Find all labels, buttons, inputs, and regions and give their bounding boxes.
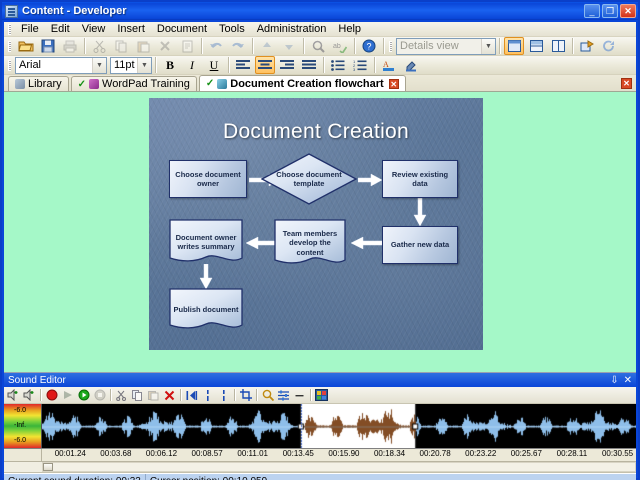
node-review-existing-data[interactable]: Review existing data (382, 160, 458, 198)
panel-close-icon[interactable]: ✕ (624, 375, 632, 386)
font-name-value: Arial (19, 59, 41, 71)
redo-icon (228, 37, 248, 55)
minimize-button[interactable]: _ (584, 4, 600, 18)
node-label: Document owner writes summary (169, 233, 243, 252)
record-icon[interactable] (44, 388, 59, 403)
ruler-gutter (4, 449, 42, 461)
toolbar-separator (323, 57, 324, 73)
ruler-tick: 00:13.45 (283, 449, 314, 458)
italic-label: I (190, 58, 194, 73)
copy-icon (111, 37, 131, 55)
bold-button[interactable]: B (160, 56, 180, 74)
meter-label-top: -6.0 (14, 407, 26, 414)
pin-icon[interactable]: ⇩ (610, 375, 618, 386)
node-label: Team members develop the content (274, 229, 346, 257)
tab-document-creation-flowchart-label: Document Creation flowchart (230, 78, 383, 90)
check-icon: ✓ (206, 78, 214, 89)
marker2-icon[interactable] (216, 388, 231, 403)
connector-template-to-review (358, 173, 384, 187)
flowchart-icon (217, 79, 227, 89)
svg-text:?: ? (366, 42, 371, 52)
node-gather-new-data[interactable]: Gather new data (382, 226, 458, 264)
font-color-icon[interactable]: A (379, 56, 399, 74)
level-meter: -6.0 -Inf. -6.0 (4, 404, 42, 448)
client-area: File Edit View Insert Document Tools Adm… (4, 22, 636, 476)
crop-icon[interactable] (238, 388, 253, 403)
menu-view[interactable]: View (76, 22, 112, 36)
find-icon (308, 37, 328, 55)
paste-icon (146, 388, 161, 403)
horizontal-split-icon[interactable] (526, 37, 546, 55)
sound-duration-status: Current sound duration: 00:33 (4, 474, 146, 480)
italic-button[interactable]: I (182, 56, 202, 74)
vertical-split-icon[interactable] (548, 37, 568, 55)
ruler-tick: 00:03.68 (100, 449, 131, 458)
application-window: Content - Developer _ ❐ ✕ File Edit View… (0, 0, 640, 480)
toolbar-separator (572, 38, 573, 54)
document-workspace[interactable]: Document Creation (4, 92, 636, 372)
close-button[interactable]: ✕ (620, 4, 636, 18)
effects-icon[interactable] (314, 388, 329, 403)
copy-icon[interactable] (130, 388, 145, 403)
meter-label-bottom: -6.0 (14, 437, 26, 444)
meter-label-middle: -Inf. (14, 422, 26, 429)
insert-sound-icon[interactable] (6, 388, 21, 403)
delete-icon[interactable] (162, 388, 177, 403)
svg-text:A: A (383, 60, 389, 69)
cut-icon (89, 37, 109, 55)
levels-icon[interactable] (276, 388, 291, 403)
cursor-position-status: Cursor position: 00:10.059 (146, 474, 636, 480)
highlight-icon[interactable] (401, 56, 421, 74)
sound-editor-titlebar: Sound Editor ⇩ ✕ (4, 373, 636, 387)
check-icon: ✓ (78, 79, 86, 90)
app-document-icon (5, 5, 18, 18)
chevron-down-icon: ▼ (137, 58, 151, 73)
window-titlebar: Content - Developer _ ❐ ✕ (2, 2, 638, 20)
font-size-select[interactable]: 11pt ▼ (110, 57, 152, 74)
slide-title: Document Creation (149, 120, 483, 144)
ruler-tick: 00:28.11 (557, 449, 588, 458)
ruler-tick: 00:30.55 (602, 449, 633, 458)
maximize-button[interactable]: ❐ (602, 4, 618, 18)
connector-review-to-gather (413, 198, 427, 227)
menu-edit[interactable]: Edit (45, 22, 76, 36)
sound-editor-panel: Sound Editor ⇩ ✕ (4, 372, 636, 480)
play-icon[interactable] (76, 388, 91, 403)
sound-status-bar: Current sound duration: 00:33 Cursor pos… (4, 473, 636, 480)
waveform-hscrollbar[interactable] (4, 462, 636, 473)
font-name-select[interactable]: Arial ▼ (15, 57, 107, 74)
menu-bar: File Edit View Insert Document Tools Adm… (4, 22, 636, 37)
toolbar-separator (303, 38, 304, 54)
toolbar-separator (155, 57, 156, 73)
close-document-button[interactable]: ✕ (621, 78, 632, 89)
help-icon[interactable]: ? (359, 37, 379, 55)
sound-editor-toolbar (4, 387, 636, 404)
move-down-icon (279, 37, 299, 55)
node-label: Choose document owner (172, 170, 244, 189)
timeline-ruler[interactable]: 00:01.2400:03.6800:06.1200:08.5700:11.01… (4, 449, 636, 462)
connector-summary-to-publish (199, 264, 213, 290)
bullet-list-icon[interactable] (328, 56, 348, 74)
toolbar-separator (499, 38, 500, 54)
main-toolbar: ab ? Details view ▼ (4, 37, 636, 56)
tab-library-label: Library (28, 78, 62, 90)
menubar-gripper[interactable] (6, 23, 12, 36)
node-label: Review existing data (385, 170, 455, 189)
minus-icon[interactable] (292, 388, 307, 403)
tab-close-icon[interactable]: ✕ (389, 79, 399, 89)
library-icon (15, 79, 25, 89)
stop-icon (92, 388, 107, 403)
document-tabs: Library ✓ WordPad Training ✓ Document Cr… (4, 75, 636, 92)
ruler-tick: 00:06.12 (146, 449, 177, 458)
save-icon[interactable] (38, 37, 58, 55)
ruler-tick: 00:18.34 (374, 449, 405, 458)
font-size-value: 11pt (114, 59, 135, 71)
menu-insert[interactable]: Insert (111, 22, 151, 36)
toolbar-separator (40, 389, 41, 401)
append-sound-icon[interactable] (22, 388, 37, 403)
toolbar-separator (354, 38, 355, 54)
menu-administration[interactable]: Administration (251, 22, 333, 36)
bold-label: B (166, 58, 174, 73)
node-choose-document-owner[interactable]: Choose document owner (169, 160, 247, 198)
waveform-canvas-container[interactable] (42, 404, 636, 448)
toolbar-separator (374, 57, 375, 73)
ruler-tick: 00:11.01 (237, 449, 268, 458)
node-document-owner-writes-summary[interactable]: Document owner writes summary (169, 219, 243, 265)
format-toolbar-gripper[interactable] (6, 59, 12, 72)
toolbar-separator (256, 389, 257, 401)
waveform-area[interactable]: -6.0 -Inf. -6.0 (4, 404, 636, 449)
scroll-thumb[interactable] (43, 463, 53, 471)
delete-icon (155, 37, 175, 55)
publish-icon[interactable] (577, 37, 597, 55)
menu-document[interactable]: Document (151, 22, 213, 36)
ruler-tick: 00:23.22 (465, 449, 496, 458)
zoom-icon[interactable] (260, 388, 275, 403)
connector-team-to-summary (244, 236, 276, 250)
flowchart-slide[interactable]: Document Creation (149, 98, 483, 350)
waveform-canvas[interactable] (42, 404, 636, 448)
node-choose-document-template[interactable]: Choose document template (261, 153, 357, 205)
spellcheck-icon: ab (330, 37, 350, 55)
toolbar-separator (110, 389, 111, 401)
underline-label: U (210, 58, 219, 73)
ruler-tick: 00:25.67 (511, 449, 542, 458)
chevron-down-icon: ▼ (92, 58, 106, 73)
chevron-down-icon: ▼ (481, 39, 495, 54)
view-toolbar-gripper[interactable] (387, 40, 393, 53)
node-label: Choose document template (261, 170, 357, 189)
ruler-tick: 00:20.78 (420, 449, 451, 458)
toolbar-separator (228, 57, 229, 73)
align-left-icon[interactable] (233, 56, 253, 74)
toolbar-separator (84, 38, 85, 54)
node-team-members-develop-content[interactable]: Team members develop the content (274, 219, 346, 267)
tab-wordpad-training-label: WordPad Training (102, 78, 190, 90)
toolbar-separator (310, 389, 311, 401)
marker-icon[interactable] (200, 388, 215, 403)
scroll-track[interactable] (42, 462, 636, 472)
toolbar-separator (201, 38, 202, 54)
align-right-icon[interactable] (277, 56, 297, 74)
align-justify-icon[interactable] (299, 56, 319, 74)
align-center-icon[interactable] (255, 56, 275, 74)
tab-wordpad-training[interactable]: ✓ WordPad Training (71, 76, 197, 91)
ruler-tick: 00:01.24 (55, 449, 86, 458)
move-up-icon (257, 37, 277, 55)
node-label: Publish document (169, 305, 242, 314)
node-label: Gather new data (391, 240, 449, 249)
view-mode-value: Details view (400, 40, 459, 52)
svg-text:ab: ab (333, 43, 341, 50)
print-icon (60, 37, 80, 55)
menu-help[interactable]: Help (332, 22, 367, 36)
tab-library[interactable]: Library (8, 76, 69, 91)
view-mode-select[interactable]: Details view ▼ (396, 38, 496, 55)
ruler-track[interactable]: 00:01.2400:03.6800:06.1200:08.5700:11.01… (42, 449, 636, 461)
ruler-tick: 00:15.90 (328, 449, 359, 458)
refresh-icon (599, 37, 619, 55)
undo-icon (206, 37, 226, 55)
svg-text:3: 3 (353, 67, 356, 71)
properties-icon (177, 37, 197, 55)
toolbar-separator (234, 389, 235, 401)
single-pane-view-icon[interactable] (504, 37, 524, 55)
toolbar-separator (383, 38, 384, 54)
cut-icon[interactable] (114, 388, 129, 403)
sound-editor-controls: ⇩ ✕ (610, 375, 632, 386)
node-publish-document[interactable]: Publish document (169, 288, 243, 332)
underline-button[interactable]: U (204, 56, 224, 74)
format-toolbar: Arial ▼ 11pt ▼ B I U (4, 56, 636, 75)
go-to-start-icon[interactable] (184, 388, 199, 403)
window-controls: _ ❐ ✕ (584, 4, 636, 18)
play-from-cursor-icon[interactable] (60, 388, 75, 403)
numbered-list-icon[interactable]: 123 (350, 56, 370, 74)
tab-document-creation-flowchart[interactable]: ✓ Document Creation flowchart ✕ (199, 75, 406, 91)
connector-gather-to-team (347, 236, 383, 250)
open-folder-icon[interactable] (16, 37, 36, 55)
window-title: Content - Developer (22, 5, 127, 17)
toolbar-separator (180, 389, 181, 401)
toolbar-separator (252, 38, 253, 54)
menu-tools[interactable]: Tools (213, 22, 251, 36)
training-icon (89, 79, 99, 89)
paste-icon (133, 37, 153, 55)
main-toolbar-gripper[interactable] (6, 40, 12, 53)
menu-file[interactable]: File (15, 22, 45, 36)
ruler-tick: 00:08.57 (192, 449, 223, 458)
sound-editor-title: Sound Editor (8, 375, 66, 386)
